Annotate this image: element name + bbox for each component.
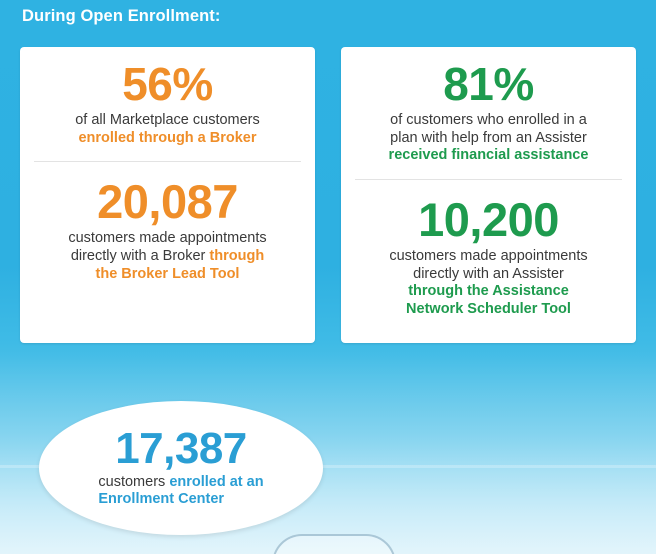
stat-description-line1: customers made appointments bbox=[68, 230, 266, 246]
stat-description-highlight: through the Assistance bbox=[408, 283, 569, 299]
stat-description-line2: plan with help from an Assister bbox=[390, 130, 587, 146]
page-title: During Open Enrollment: bbox=[22, 7, 220, 26]
stat-value: 81% bbox=[357, 61, 620, 108]
stat-block-assister-percent: 81% of customers who enrolled in a plan … bbox=[355, 55, 622, 180]
stat-description-highlight: through bbox=[209, 248, 264, 264]
stat-description: customers enrolled at an Enrollment Cent… bbox=[98, 474, 263, 509]
stat-card-group: 56% of all Marketplace customers enrolle… bbox=[20, 47, 636, 343]
stat-description-line1: of customers who enrolled in a bbox=[390, 112, 587, 128]
stat-value: 20,087 bbox=[36, 178, 299, 226]
stat-value: 17,387 bbox=[115, 427, 247, 472]
stat-description-line1: customers made appointments bbox=[389, 248, 587, 264]
stat-block-broker-percent: 56% of all Marketplace customers enrolle… bbox=[34, 55, 301, 162]
stat-description-line1: of all Marketplace customers bbox=[75, 112, 260, 128]
stat-block-assister-appointments: 10,200 customers made appointments direc… bbox=[355, 180, 622, 329]
stat-description-highlight: received financial assistance bbox=[389, 147, 589, 163]
stat-description: of all Marketplace customers enrolled th… bbox=[36, 112, 299, 147]
enrollment-center-stat-bubble: 17,387 customers enrolled at an Enrollme… bbox=[39, 401, 323, 535]
assister-stat-card: 81% of customers who enrolled in a plan … bbox=[341, 47, 636, 343]
stat-description-highlight: enrolled through a Broker bbox=[78, 130, 256, 146]
bottom-decorative-graphic bbox=[272, 534, 396, 554]
infographic-canvas: During Open Enrollment: 56% of all Marke… bbox=[0, 0, 656, 554]
stat-value: 56% bbox=[36, 61, 299, 108]
stat-description: customers made appointments directly wit… bbox=[357, 248, 620, 319]
stat-description-line2: directly with a Broker bbox=[71, 248, 210, 264]
stat-value: 10,200 bbox=[357, 196, 620, 244]
stat-description-prefix: customers bbox=[98, 474, 169, 490]
stat-description-highlight-2: Enrollment Center bbox=[98, 491, 224, 507]
stat-description-highlight-2: the Broker Lead Tool bbox=[96, 266, 240, 282]
broker-stat-card: 56% of all Marketplace customers enrolle… bbox=[20, 47, 315, 343]
stat-block-broker-appointments: 20,087 customers made appointments direc… bbox=[34, 162, 301, 293]
stat-description-highlight: enrolled at an bbox=[169, 474, 263, 490]
stat-description: of customers who enrolled in a plan with… bbox=[357, 112, 620, 165]
stat-description: customers made appointments directly wit… bbox=[36, 230, 299, 283]
stat-description-line2: directly with an Assister bbox=[413, 266, 564, 282]
stat-description-highlight-2: Network Scheduler Tool bbox=[406, 301, 571, 317]
